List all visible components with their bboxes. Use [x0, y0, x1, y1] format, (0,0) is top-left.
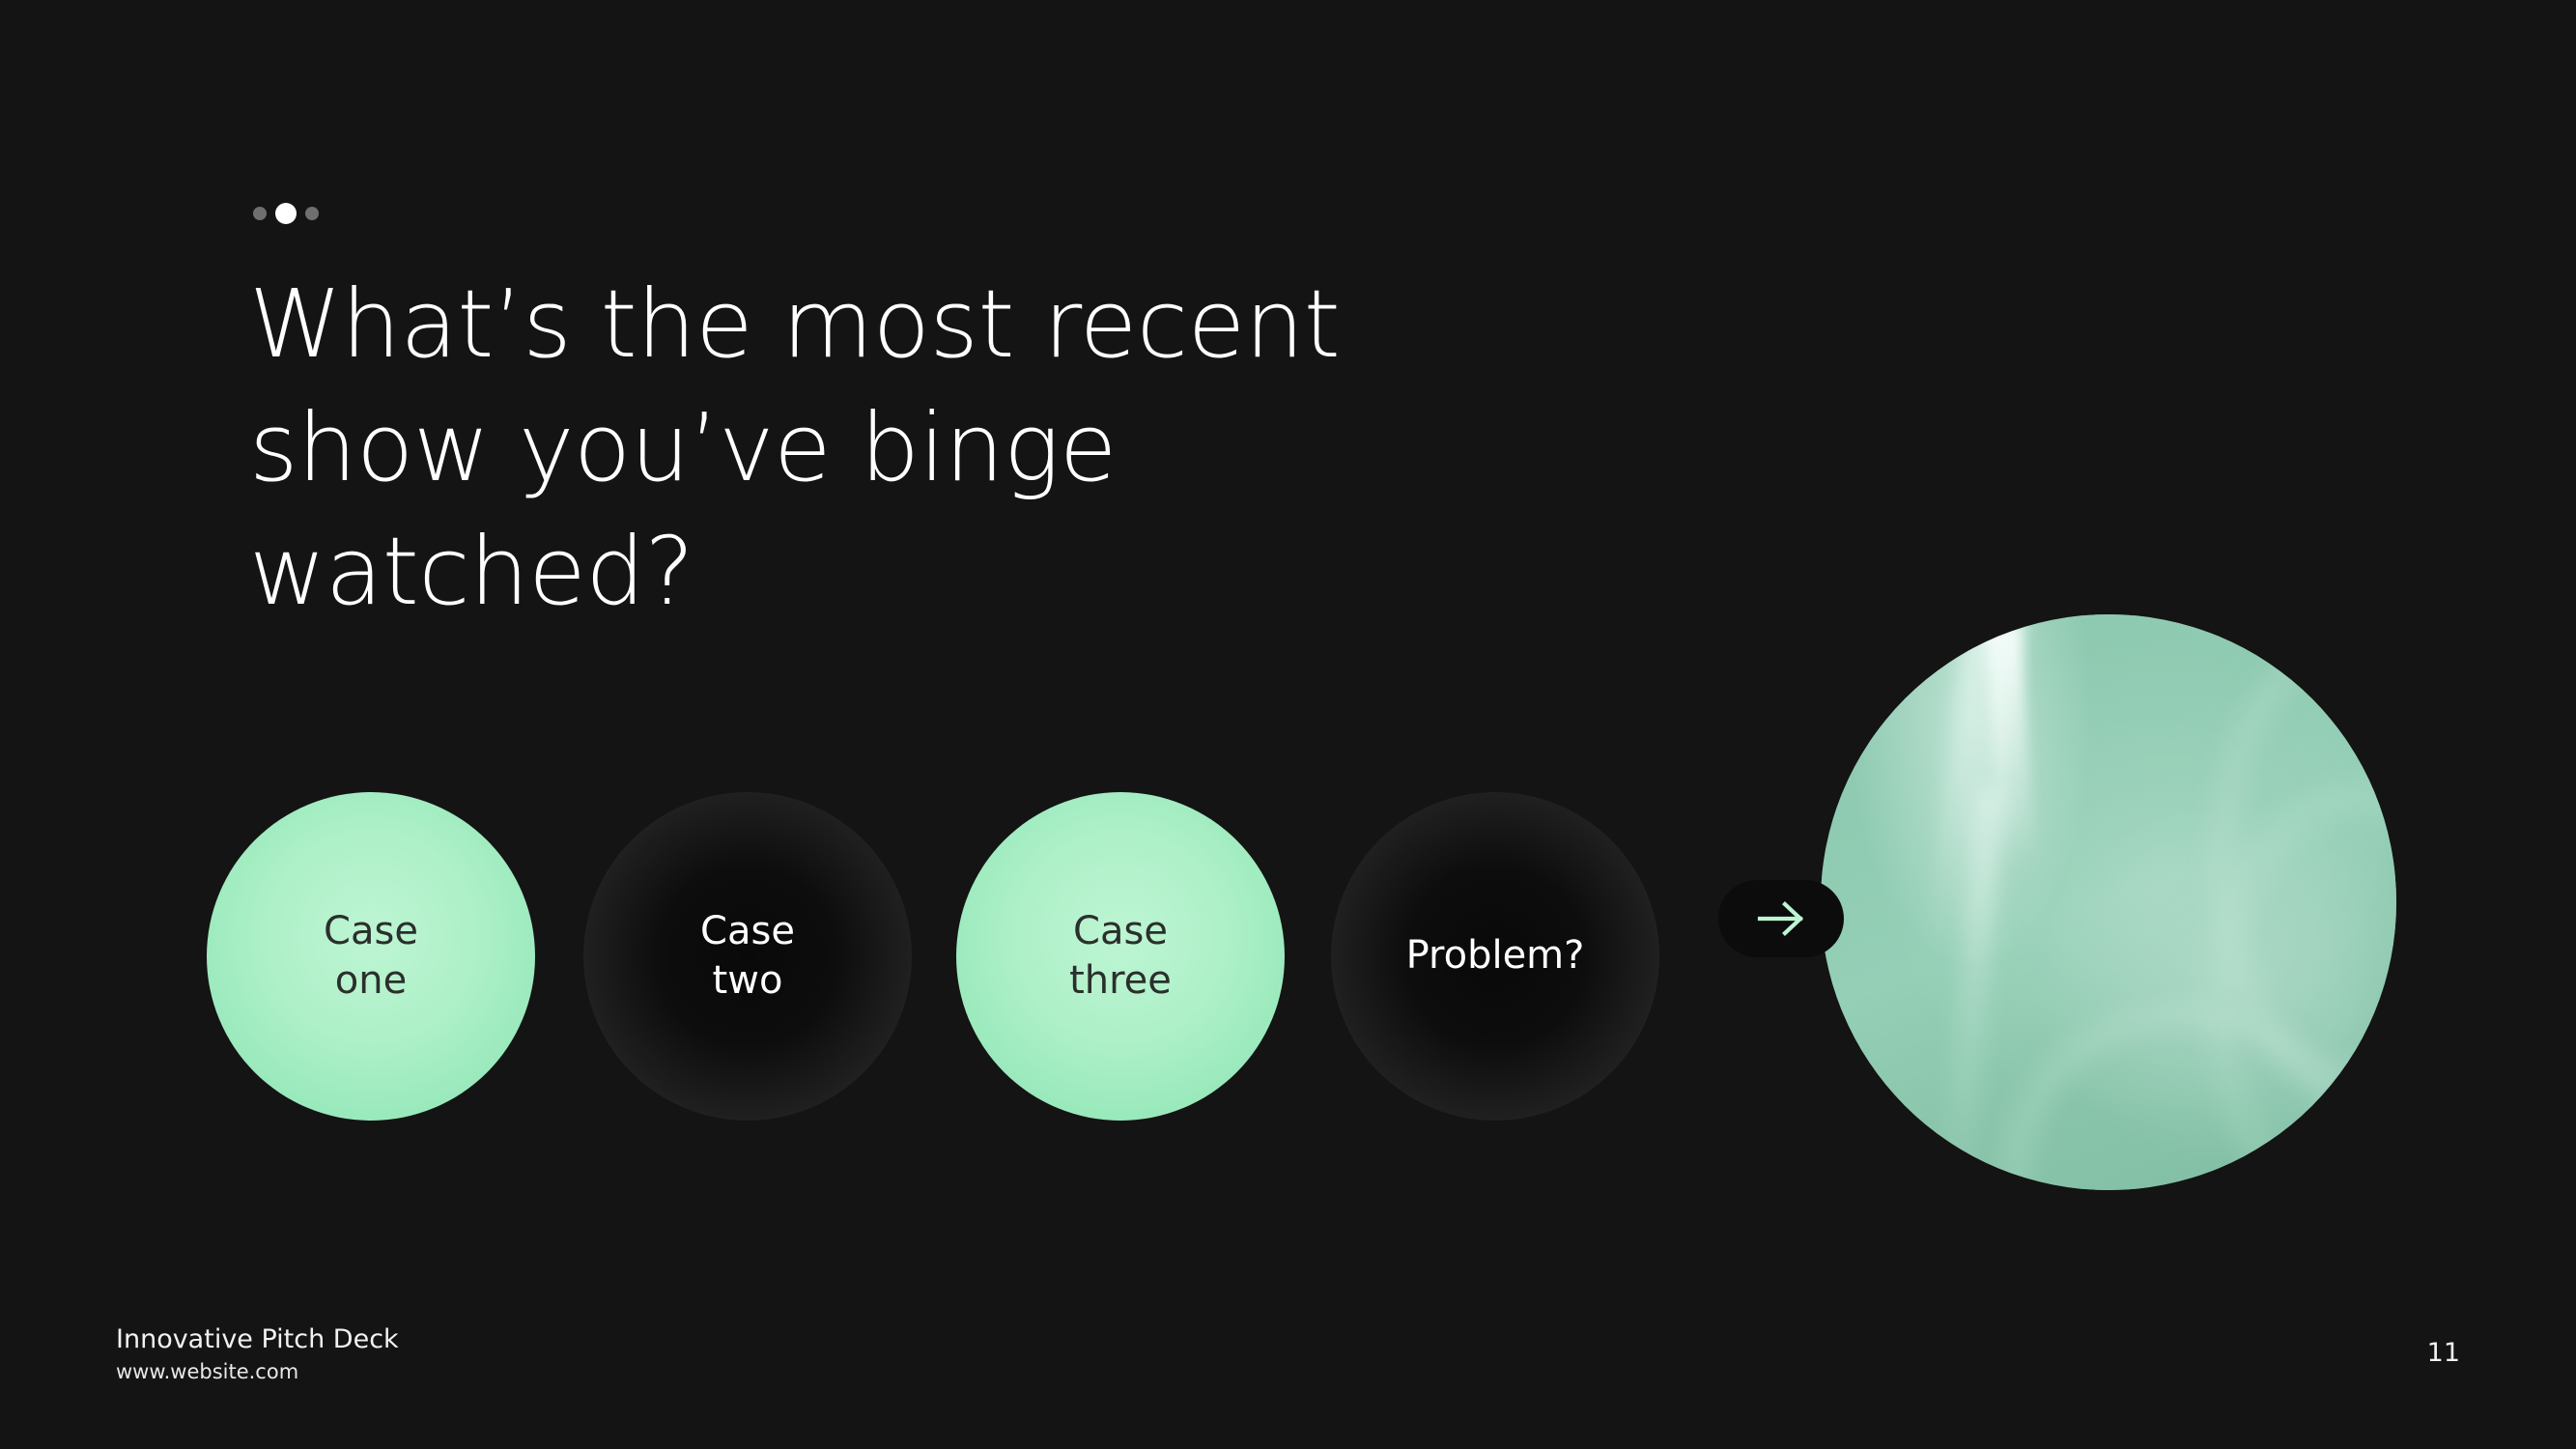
photo-sheen: [1821, 614, 2396, 1190]
case-circle-row: Case one Case two Case three Problem?: [207, 792, 1659, 1121]
case-circle-two[interactable]: Case two: [583, 792, 912, 1121]
case-circle-problem[interactable]: Problem?: [1331, 792, 1659, 1121]
progress-dot-2[interactable]: [275, 203, 297, 224]
case-circle-two-label: Case two: [700, 907, 795, 1006]
case-circle-one[interactable]: Case one: [207, 792, 535, 1121]
progress-dots[interactable]: [253, 202, 319, 225]
progress-dot-3[interactable]: [305, 207, 319, 220]
footer-website-url: www.website.com: [116, 1358, 399, 1385]
case-circle-three[interactable]: Case three: [956, 792, 1285, 1121]
footer: Innovative Pitch Deck www.website.com: [116, 1322, 399, 1385]
page-title: What’s the most recent show you’ve binge…: [249, 263, 1534, 634]
footer-deck-title: Innovative Pitch Deck: [116, 1322, 399, 1356]
arrow-right-icon: [1754, 899, 1808, 938]
photo-circle: [1821, 614, 2396, 1190]
slide-canvas: What’s the most recent show you’ve binge…: [0, 0, 2576, 1449]
progress-dot-1[interactable]: [253, 207, 267, 220]
next-slide-button[interactable]: [1718, 880, 1844, 957]
case-circle-one-label: Case one: [324, 907, 418, 1006]
case-circle-problem-label: Problem?: [1406, 931, 1585, 980]
page-number: 11: [2427, 1338, 2460, 1368]
case-circle-three-label: Case three: [1069, 907, 1172, 1006]
